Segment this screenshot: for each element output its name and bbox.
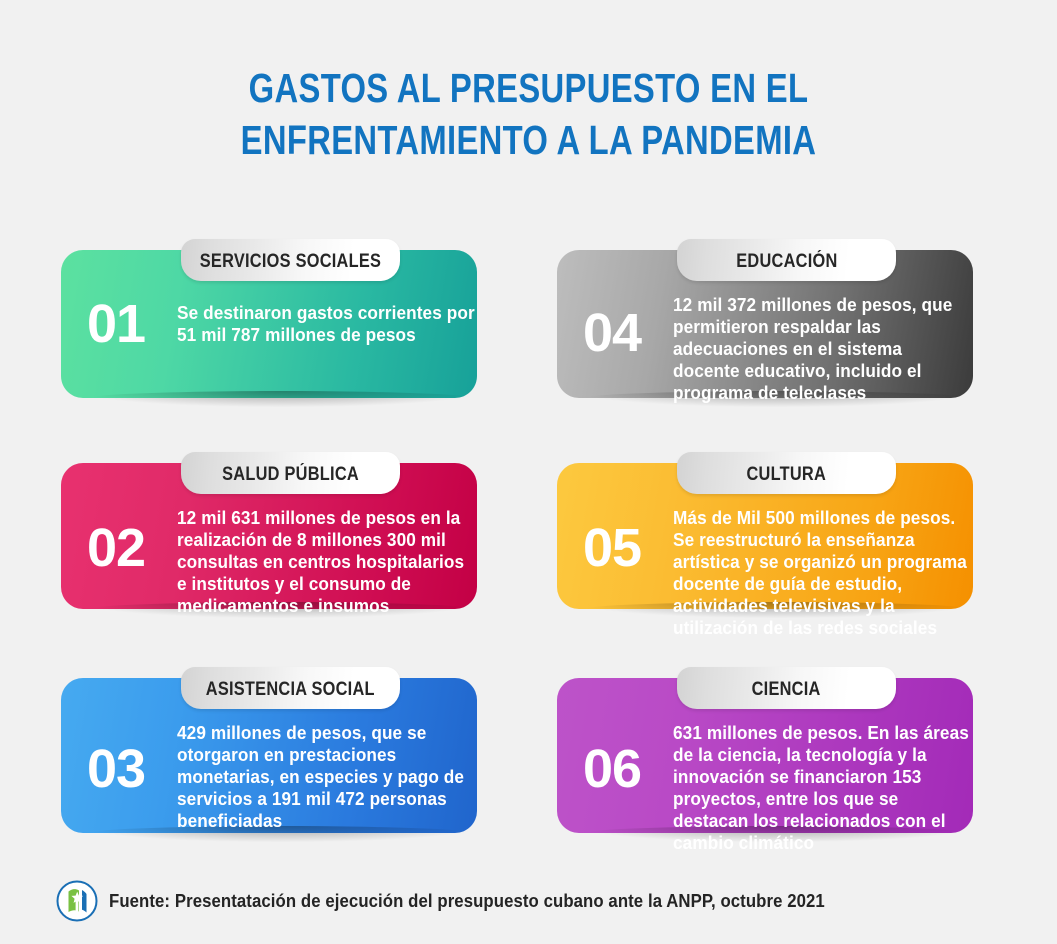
card-03-text: 429 millones de pesos, que se otorgaron … <box>177 722 476 832</box>
card-03-label-pill: ASISTENCIA SOCIAL <box>181 667 400 709</box>
card-02-panel: SALUD PÚBLICA 02 12 mil 631 millones de … <box>61 463 477 609</box>
card-03-number: 03 <box>81 722 177 796</box>
card-04[interactable]: EDUCACIÓN 04 12 mil 372 millones de peso… <box>557 250 973 398</box>
card-06-label: CIENCIA <box>752 677 821 699</box>
card-05-number: 05 <box>577 507 673 575</box>
card-01[interactable]: SERVICIOS SOCIALES 01 Se destinaron gast… <box>61 250 477 398</box>
card-04-panel: EDUCACIÓN 04 12 mil 372 millones de peso… <box>557 250 973 398</box>
card-02-number: 02 <box>81 507 177 575</box>
card-03-label: ASISTENCIA SOCIAL <box>206 677 375 699</box>
footer: Fuente: Presentatación de ejecución del … <box>56 880 879 922</box>
card-05-panel: CULTURA 05 Más de Mil 500 millones de pe… <box>557 463 973 609</box>
card-06-number: 06 <box>577 722 673 796</box>
card-04-text: 12 mil 372 millones de pesos, que permit… <box>673 294 972 404</box>
card-04-number: 04 <box>577 294 673 360</box>
card-03-panel: ASISTENCIA SOCIAL 03 429 millones de pes… <box>61 678 477 833</box>
cubadebate-logo-icon <box>56 880 98 922</box>
card-05-text: Más de Mil 500 millones de pesos. Se ree… <box>673 507 972 639</box>
card-02[interactable]: SALUD PÚBLICA 02 12 mil 631 millones de … <box>61 463 477 609</box>
footer-source-text: Fuente: Presentatación de ejecución del … <box>109 891 825 912</box>
card-04-label-pill: EDUCACIÓN <box>677 239 896 281</box>
card-06-text: 631 millones de pesos. En las áreas de l… <box>673 722 972 854</box>
card-06[interactable]: CIENCIA 06 631 millones de pesos. En las… <box>557 678 973 833</box>
card-01-number: 01 <box>81 297 177 351</box>
card-06-label-pill: CIENCIA <box>677 667 896 709</box>
card-04-label: EDUCACIÓN <box>736 249 837 271</box>
card-01-panel: SERVICIOS SOCIALES 01 Se destinaron gast… <box>61 250 477 398</box>
cards-grid: SERVICIOS SOCIALES 01 Se destinaron gast… <box>0 0 1057 944</box>
card-05-label-pill: CULTURA <box>677 452 896 494</box>
card-02-label: SALUD PÚBLICA <box>222 462 359 484</box>
card-02-text: 12 mil 631 millones de pesos en la reali… <box>177 507 476 617</box>
card-02-label-pill: SALUD PÚBLICA <box>181 452 400 494</box>
card-06-panel: CIENCIA 06 631 millones de pesos. En las… <box>557 678 973 833</box>
card-01-label: SERVICIOS SOCIALES <box>200 249 381 271</box>
card-01-text: Se destinaron gastos corrientes por 51 m… <box>177 302 476 346</box>
card-05[interactable]: CULTURA 05 Más de Mil 500 millones de pe… <box>557 463 973 609</box>
card-03[interactable]: ASISTENCIA SOCIAL 03 429 millones de pes… <box>61 678 477 833</box>
card-05-label: CULTURA <box>747 462 827 484</box>
card-01-label-pill: SERVICIOS SOCIALES <box>181 239 400 281</box>
